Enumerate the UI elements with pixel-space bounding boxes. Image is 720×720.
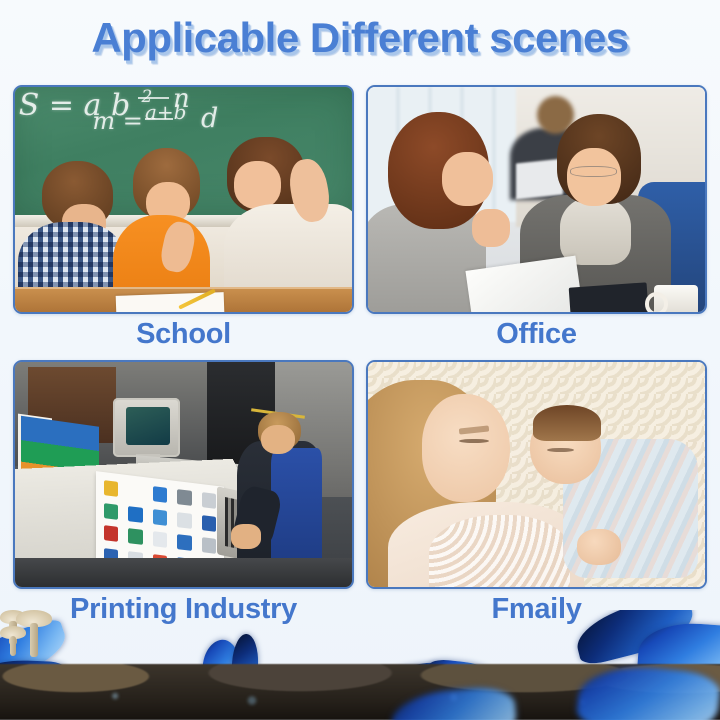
scene-label-school: School: [13, 318, 354, 351]
chalk-symbol-d: d: [201, 103, 218, 134]
eyeglasses: [570, 166, 617, 177]
woman-left-face: [442, 152, 493, 206]
crt-screen: [126, 407, 170, 445]
chalk-formula-2: m =: [92, 107, 143, 135]
photo-office: [368, 87, 705, 312]
woman-right-face: [567, 148, 621, 207]
worker-hand: [231, 524, 261, 549]
photo-frame-printing: [13, 360, 354, 589]
photo-frame-school: S = a b 2 n m = a+b d: [13, 85, 354, 314]
baby-eye: [547, 448, 574, 453]
woman-right-scarf: [560, 197, 631, 265]
scene-card-office[interactable]: Office: [366, 85, 707, 360]
lace-detail: [429, 515, 571, 587]
chalk-fraction-bar-1: [138, 97, 170, 99]
notebook: [569, 282, 649, 312]
baby-fist: [577, 529, 621, 565]
mother-eye: [459, 439, 489, 444]
photo-frame-family: [366, 360, 707, 589]
baby-hair: [533, 405, 600, 441]
photo-printing: [15, 362, 352, 587]
scene-label-office: Office: [366, 318, 707, 351]
butterfly-decoration-strip: [0, 610, 720, 720]
photo-frame-office: [366, 85, 707, 314]
scene-card-school[interactable]: S = a b 2 n m = a+b d: [13, 85, 354, 360]
chalk-fraction-top: a+b: [145, 100, 186, 124]
mushroom-stem: [10, 636, 16, 656]
chalk-fraction-bar-2: [145, 118, 173, 120]
scene-grid: S = a b 2 n m = a+b d: [13, 85, 707, 635]
page-title: Applicable Different scenes: [0, 14, 720, 62]
photo-school: S = a b 2 n m = a+b d: [15, 87, 352, 312]
mother-face: [422, 394, 510, 502]
scene-card-printing[interactable]: Printing Industry: [13, 360, 354, 635]
woman-left-hand: [472, 209, 509, 247]
teacher-face: [234, 161, 281, 208]
photo-family: [368, 362, 705, 587]
mushroom-stem: [30, 623, 38, 657]
scene-card-family[interactable]: Fmaily: [366, 360, 707, 635]
coffee-mug: [654, 285, 698, 312]
worker-face: [261, 425, 295, 454]
workshop-floor: [15, 558, 352, 587]
